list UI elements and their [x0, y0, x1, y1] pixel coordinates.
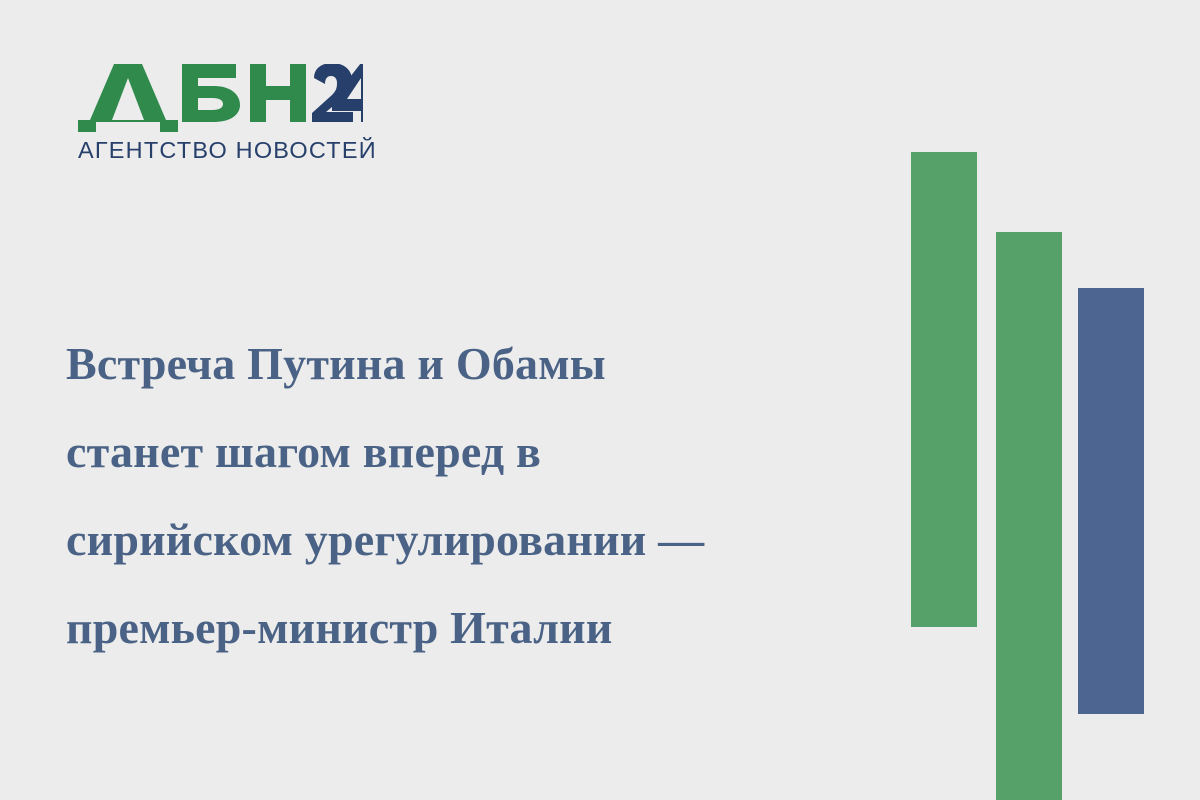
- logo-tagline: АГЕНТСТВО НОВОСТЕЙ: [78, 137, 378, 164]
- headline-line-1: Встреча Путина и Обамы: [66, 320, 866, 408]
- chart-bar-1: [911, 152, 977, 627]
- article-headline: Встреча Путина и Обамы станет шагом впер…: [66, 320, 866, 672]
- headline-line-4: премьер-министр Италии: [66, 584, 866, 672]
- chart-bar-2: [996, 232, 1062, 800]
- chart-bar-3: [1078, 288, 1144, 714]
- news-card-poster: АГЕНТСТВО НОВОСТЕЙ Встреча Путина и Обам…: [0, 0, 1200, 800]
- logo-24-glyphs: [312, 64, 363, 122]
- headline-line-3: сирийском урегулировании —: [66, 496, 866, 584]
- logo-abn-glyphs: [78, 64, 306, 132]
- headline-line-2: станет шагом вперед в: [66, 408, 866, 496]
- brand-logo[interactable]: АГЕНТСТВО НОВОСТЕЙ: [78, 64, 378, 164]
- abn24-logo-icon: [78, 64, 363, 132]
